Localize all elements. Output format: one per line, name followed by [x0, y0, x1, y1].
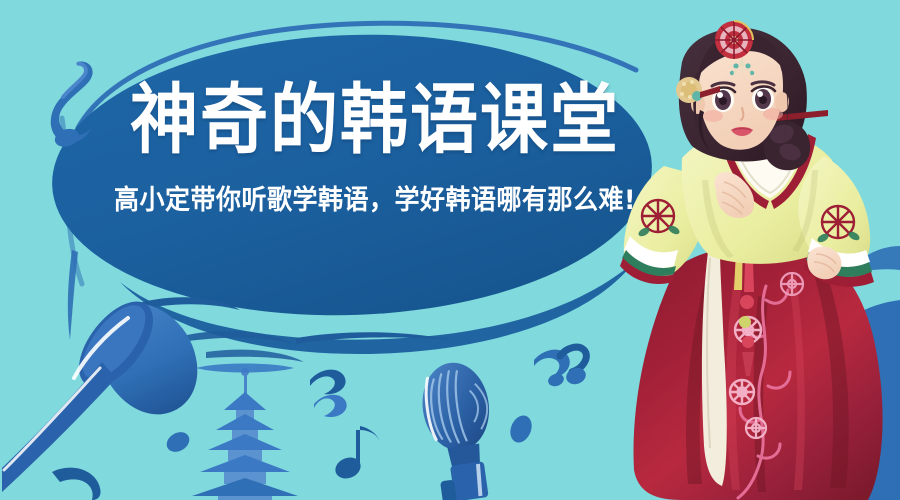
flower-hairpin: [715, 21, 753, 59]
course-banner: 神奇的韩语课堂 高小定带你听歌学韩语，学好韩语哪有那么难!: [0, 0, 900, 500]
hanbok-woman-illustration: [616, 0, 900, 500]
character-head: [676, 21, 828, 170]
